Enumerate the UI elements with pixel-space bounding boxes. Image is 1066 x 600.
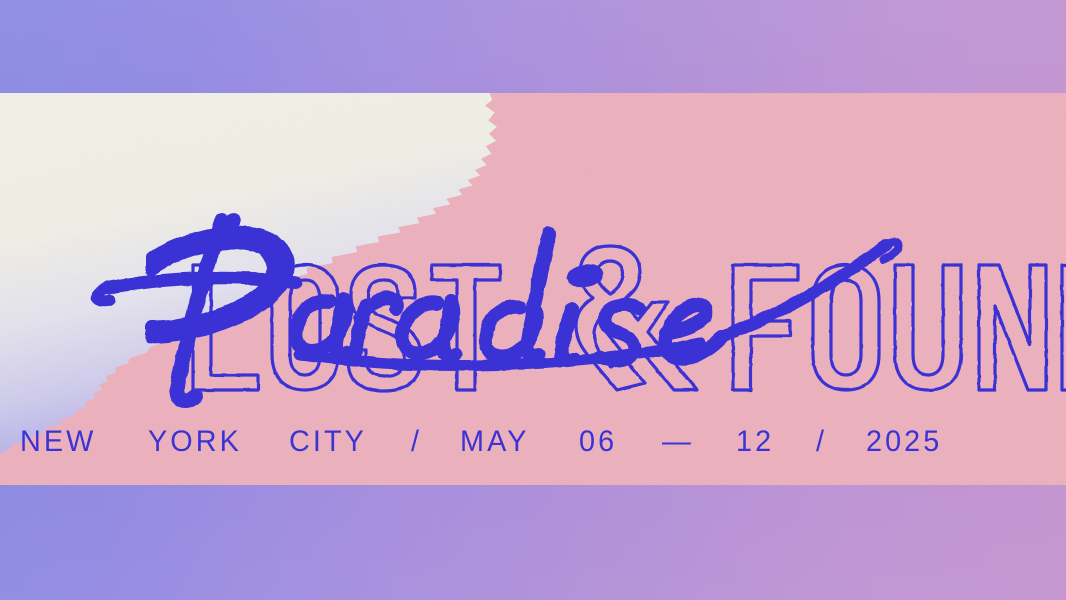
info-separator-2: / (816, 427, 827, 457)
info-city-york: YORK (148, 427, 242, 457)
info-end-day: 12 (736, 427, 774, 457)
event-info-row: NEW YORK CITY / MAY 06 — 12 / 2025 (0, 399, 1066, 485)
info-city-city: CITY (289, 427, 367, 457)
info-start-day: 06 (579, 427, 617, 457)
info-year: 2025 (866, 427, 942, 457)
poster-stage: NEW YORK CITY / MAY 06 — 12 / 2025 (0, 0, 1066, 600)
info-range-dash: — (662, 427, 691, 457)
poster-artwork: NEW YORK CITY / MAY 06 — 12 / 2025 (0, 93, 1066, 485)
info-city-new: NEW (20, 427, 96, 457)
info-month: MAY (460, 427, 529, 457)
info-separator-1: / (411, 427, 422, 457)
display-headline-lost-and-found (193, 246, 1066, 391)
